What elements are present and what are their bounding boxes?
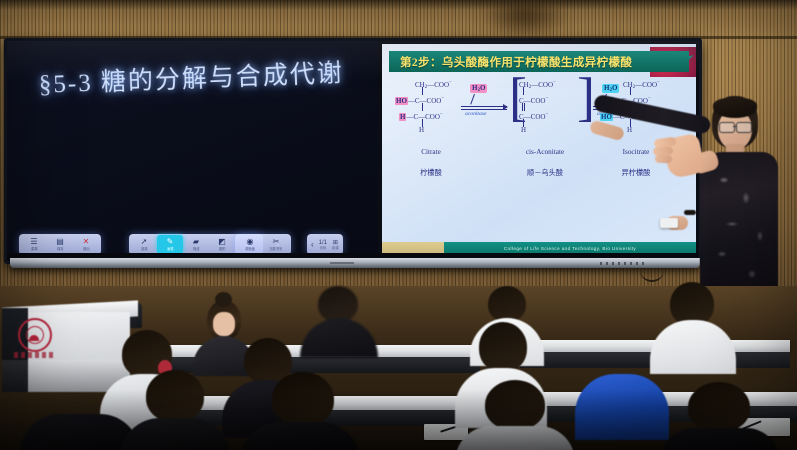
slide-title-bar: 第2步：乌头酸酶作用于柠檬酸生成异柠檬酸: [389, 51, 689, 72]
student-body: [575, 374, 669, 440]
arrow1-water-label: H2O: [470, 84, 487, 93]
student-body: [240, 422, 360, 450]
panel-bottom-rail: [10, 258, 700, 268]
citrate-name-en: Citrate: [405, 148, 457, 156]
student-mid-right-blue: [575, 330, 669, 438]
teacher-held-paper: [660, 218, 678, 228]
isocitrate-bond-1: [630, 87, 631, 95]
student-head: [599, 330, 649, 378]
chevron-left-icon[interactable]: ‹: [311, 241, 314, 249]
student-body: [660, 428, 780, 450]
close-glyph: ✕: [83, 238, 90, 246]
student-head: [318, 286, 358, 322]
palette-icon[interactable]: ◉ 调色板: [237, 235, 263, 254]
teacher-hair-front: [713, 98, 757, 118]
student-head: [146, 370, 204, 422]
citrate-line-4: H: [419, 126, 424, 136]
page-sublabel: 页码: [319, 246, 327, 250]
wall-top-shadow: [0, 0, 797, 10]
rail-ports: [600, 262, 646, 265]
crest-caption: [14, 352, 54, 358]
close-label: 退出: [83, 247, 89, 251]
palette-label: 调色板: [245, 247, 255, 251]
citrate-name-cn: 柠檬酸: [405, 168, 457, 178]
select-glyph: ➚: [141, 238, 148, 246]
link-icon[interactable]: ✂ 万能书写: [263, 235, 289, 254]
citrate-h-highlight: H: [399, 113, 406, 121]
save-label: 保存: [57, 247, 63, 251]
menu-label: 菜单: [31, 247, 37, 251]
status-dot: [277, 244, 279, 246]
aconitate-name-cn: 顺－乌头酸: [509, 168, 581, 178]
student-front-right-white: [455, 380, 575, 450]
aconitate-line-4: H: [521, 126, 526, 136]
eyeglasses-bridge: [733, 126, 736, 127]
aconitate-name-en: cis-Aconitate: [509, 148, 581, 156]
pen-label: 画笔: [167, 247, 173, 251]
isocitrate-line-4: H: [627, 126, 632, 136]
close-icon[interactable]: ✕ 退出: [73, 235, 99, 254]
aconitate-line-1: CH2—COO−: [519, 78, 556, 93]
smartboard-panel[interactable]: §5-3 糖的分解与合成代谢 ☰ 菜单 ▤ 保存 ✕ 退出 ➚ 选择 ✎: [4, 38, 702, 264]
wall-smudge: [480, 0, 570, 40]
blouse-pattern: [702, 158, 776, 298]
student-head: [485, 380, 545, 430]
eyeglasses-left-lens: [719, 122, 735, 133]
citrate-line-3: H—C—COO−: [399, 110, 443, 123]
pen-glyph: ✎: [167, 238, 174, 246]
menu-glyph: ☰: [30, 238, 37, 246]
footer-text: College of Life Science and Technology, …: [504, 246, 636, 251]
rail-marking: [330, 262, 354, 264]
aconitate-bond-2b: [524, 103, 525, 111]
student-hair-bun: [215, 292, 232, 307]
university-crest: [18, 318, 52, 352]
blackboard-handwriting: §5-3 糖的分解与合成代谢: [38, 53, 340, 116]
arrow1-head: [503, 104, 508, 110]
student-front-left-2: [120, 370, 230, 450]
select-icon[interactable]: ➚ 选择: [131, 235, 157, 254]
student-body: [120, 418, 230, 450]
aconitate-bond-1: [523, 87, 524, 95]
student-body: [455, 426, 575, 450]
bracket-right: ]: [577, 70, 595, 124]
student-face: [213, 312, 235, 336]
add-page-icon: ⊞: [332, 240, 339, 246]
student-head: [272, 372, 334, 426]
isocitrate-bond-3: [630, 119, 631, 127]
shape-glyph: ◩: [218, 238, 226, 246]
eraser-glyph: ▰: [193, 238, 199, 246]
citrate-bond-3: [422, 119, 423, 127]
citrate-bond-2: [422, 103, 423, 111]
link-label: 万能书写: [270, 247, 283, 251]
save-icon[interactable]: ▤ 保存: [47, 235, 73, 254]
toolbar-pager[interactable]: ‹ 1/1 页码 ⊞ 新建: [307, 234, 343, 255]
arrow2-water-label: H2O: [602, 84, 619, 93]
eraser-icon[interactable]: ▰ 橡皮: [183, 235, 209, 254]
save-glyph: ▤: [56, 238, 64, 246]
arrow1-line-bottom: [461, 109, 507, 110]
shape-label: 图形: [219, 247, 225, 251]
add-page-button[interactable]: ⊞ 新建: [332, 240, 339, 250]
crest-inner: [26, 326, 44, 344]
pointing-finger-ring: [655, 155, 672, 164]
student-front-far-right: [660, 382, 780, 450]
aconitate-bond-3: [523, 119, 524, 127]
toolbar-extra-group[interactable]: ◉ 调色板 ✂ 万能书写: [235, 234, 291, 255]
page-indicator: 1/1: [319, 240, 327, 246]
student-head: [50, 362, 112, 418]
teacher-bracelet: [684, 210, 696, 215]
pointing-hand: [648, 120, 708, 190]
student-head: [488, 286, 526, 322]
eraser-label: 橡皮: [193, 247, 199, 251]
toolbar-left-group[interactable]: ☰ 菜单 ▤ 保存 ✕ 退出: [19, 234, 101, 255]
lecture-hall-scene: §5-3 糖的分解与合成代谢 ☰ 菜单 ▤ 保存 ✕ 退出 ➚ 选择 ✎: [0, 0, 797, 450]
citrate-line-1: CH2—COO−: [415, 78, 452, 93]
pen-icon[interactable]: ✎ 画笔: [157, 235, 183, 254]
citrate-line-2: HO—C—COO−: [395, 94, 444, 107]
student-front-center: [240, 372, 360, 450]
page-indicator-wrap: 1/1 页码: [319, 240, 327, 250]
shape-icon[interactable]: ◩ 图形: [209, 235, 235, 254]
student-head: [688, 382, 750, 432]
aconitate-bond-2a: [522, 103, 523, 111]
citrate-ho-highlight: HO: [395, 97, 408, 105]
citrate-bond-1: [422, 87, 423, 95]
digital-blackboard[interactable]: §5-3 糖的分解与合成代谢: [7, 41, 378, 255]
menu-icon[interactable]: ☰ 菜单: [21, 235, 47, 254]
eyeglasses-right-lens: [736, 122, 752, 133]
arrow1-enzyme-label: aconitase: [465, 111, 486, 117]
arrow1-line-top: [461, 106, 507, 107]
add-page-label: 新建: [332, 246, 339, 250]
student-head: [479, 322, 527, 372]
reaction-diagram: CH2—COO− HO—C—COO− H—C—COO− H aconitase …: [391, 76, 687, 221]
arrow1-water-tail: [470, 94, 475, 105]
select-label: 选择: [141, 247, 147, 251]
palette-glyph: ◉: [247, 238, 254, 246]
isocitrate-line-1: CH2—COO−: [623, 78, 660, 93]
